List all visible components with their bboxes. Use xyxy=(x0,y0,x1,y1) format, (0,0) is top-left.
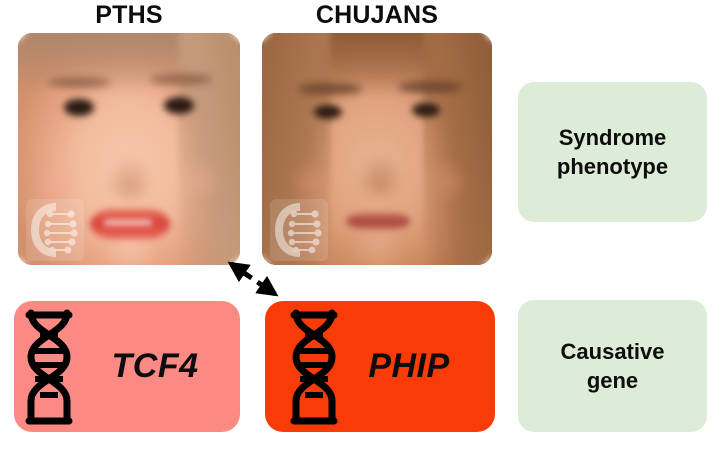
row-label-causative-gene: Causative gene xyxy=(518,300,707,432)
gene-box-tcf4: TCF4 xyxy=(14,301,240,432)
composite-face-photo-pths xyxy=(18,33,240,265)
row-label-line-2: gene xyxy=(587,366,638,395)
column-title-pths: PTHS xyxy=(18,0,240,32)
composite-face-photo-chujans xyxy=(262,33,492,265)
figure-root: PTHS CHUJANS xyxy=(0,0,718,450)
dna-helix-icon xyxy=(287,309,341,425)
gene-box-phip: PHIP xyxy=(265,301,495,432)
bidirectional-dashed-arrow xyxy=(218,252,288,306)
row-label-line-1: Syndrome xyxy=(559,123,667,152)
dna-helix-icon xyxy=(22,309,76,425)
row-label-line-2: phenotype xyxy=(557,152,668,181)
row-label-line-1: Causative xyxy=(561,337,665,366)
row-label-syndrome-phenotype: Syndrome phenotype xyxy=(518,82,707,222)
column-title-chujans: CHUJANS xyxy=(262,0,492,32)
gene-name-tcf4: TCF4 xyxy=(76,347,240,386)
face-landmark-watermark-icon xyxy=(26,199,84,261)
gene-name-phip: PHIP xyxy=(341,347,495,386)
